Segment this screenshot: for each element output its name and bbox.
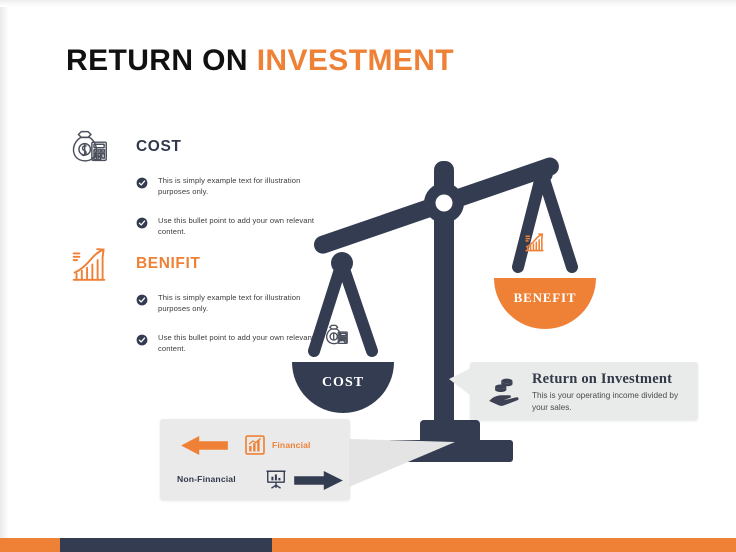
callout-title: Return on Investment	[532, 371, 672, 388]
left-pan-label: COST	[322, 375, 364, 390]
page-edge-left	[0, 0, 9, 552]
callout-return-on-investment: Return on Investment This is your operat…	[470, 362, 698, 420]
right-pan-label: BENEFIT	[514, 290, 577, 305]
page-title-primary: RETURN ON	[66, 44, 248, 77]
callout-financial-nonfinancial: Financial Non-Financial	[160, 419, 350, 500]
check-circle-icon	[136, 216, 148, 228]
callout-description: This is your operating income divided by…	[532, 390, 682, 413]
nonfinancial-row: Non-Financial	[172, 463, 342, 495]
slide-canvas: RETURN ON INVESTMENT	[0, 0, 736, 552]
check-circle-icon	[136, 293, 148, 305]
content-block-benefit: BENIFIT This is simply example text for …	[66, 240, 318, 372]
arrow-right-icon	[294, 470, 344, 491]
page-title: RETURN ON INVESTMENT	[66, 44, 454, 78]
money-bag-calculator-icon	[66, 123, 112, 169]
right-pan-hanger	[518, 173, 572, 267]
footer-bar-navy	[60, 538, 272, 552]
growth-bar-chart-icon	[66, 240, 112, 286]
block-header: COST	[66, 123, 318, 171]
hand-holding-coins-icon	[488, 376, 524, 406]
check-circle-icon	[136, 176, 148, 188]
page-title-accent: INVESTMENT	[257, 44, 454, 77]
block-title-cost: COST	[136, 138, 181, 156]
scale-pivot-center	[436, 195, 453, 212]
left-hanger-knot	[331, 252, 353, 274]
financial-label: Financial	[272, 440, 311, 450]
block-header: BENIFIT	[66, 240, 318, 288]
financial-row: Financial	[172, 429, 342, 461]
check-circle-icon	[136, 333, 148, 345]
block-title-benefit: BENIFIT	[136, 255, 200, 273]
presentation-board-icon	[265, 468, 287, 490]
arrow-left-icon	[180, 435, 228, 456]
right-hanger-knot	[531, 162, 553, 184]
callout-tail	[449, 368, 471, 396]
nonfinancial-label: Non-Financial	[177, 474, 236, 484]
bar-chart-icon	[244, 434, 266, 456]
content-block-cost: COST This is simply example text for ill…	[66, 123, 318, 255]
callout-tail	[349, 439, 455, 487]
left-pan-money-bag-calculator-icon	[327, 325, 348, 343]
page-edge-top	[0, 0, 736, 7]
